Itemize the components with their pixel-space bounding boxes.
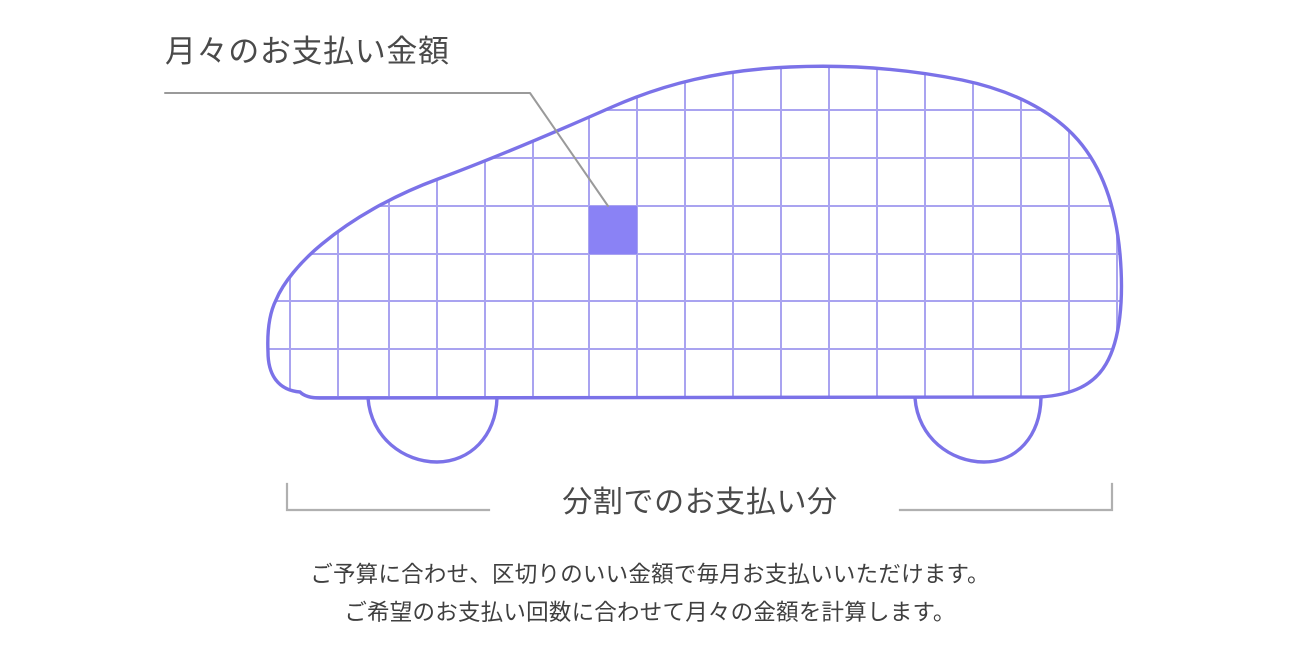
bracket-right xyxy=(900,484,1112,510)
description-line-1: ご予算に合わせ、区切りのいい金額で毎月お支払いいただけます。 xyxy=(310,562,990,587)
callout-leader-line xyxy=(165,93,608,206)
description-line-2: ご希望のお支払い回数に合わせて月々の金額を計算します。 xyxy=(344,600,955,625)
bracket-label: 分割でのお支払い分 xyxy=(562,486,837,519)
diagram-page: 月々のお支払い金額 分割でのお支払い分 ご予算に合わせ、区切りのいい金額で毎月お… xyxy=(0,0,1300,660)
payment-illustration: 月々のお支払い金額 分割でのお支払い分 ご予算に合わせ、区切りのいい金額で毎月お… xyxy=(0,0,1300,660)
installment-bracket: 分割でのお支払い分 xyxy=(287,484,1112,519)
monthly-payment-cell xyxy=(589,206,637,254)
callout-title: 月々のお支払い金額 xyxy=(165,34,450,69)
bracket-left xyxy=(287,484,489,510)
rear-wheel-arch xyxy=(915,398,1041,462)
front-wheel-arch xyxy=(368,398,497,462)
